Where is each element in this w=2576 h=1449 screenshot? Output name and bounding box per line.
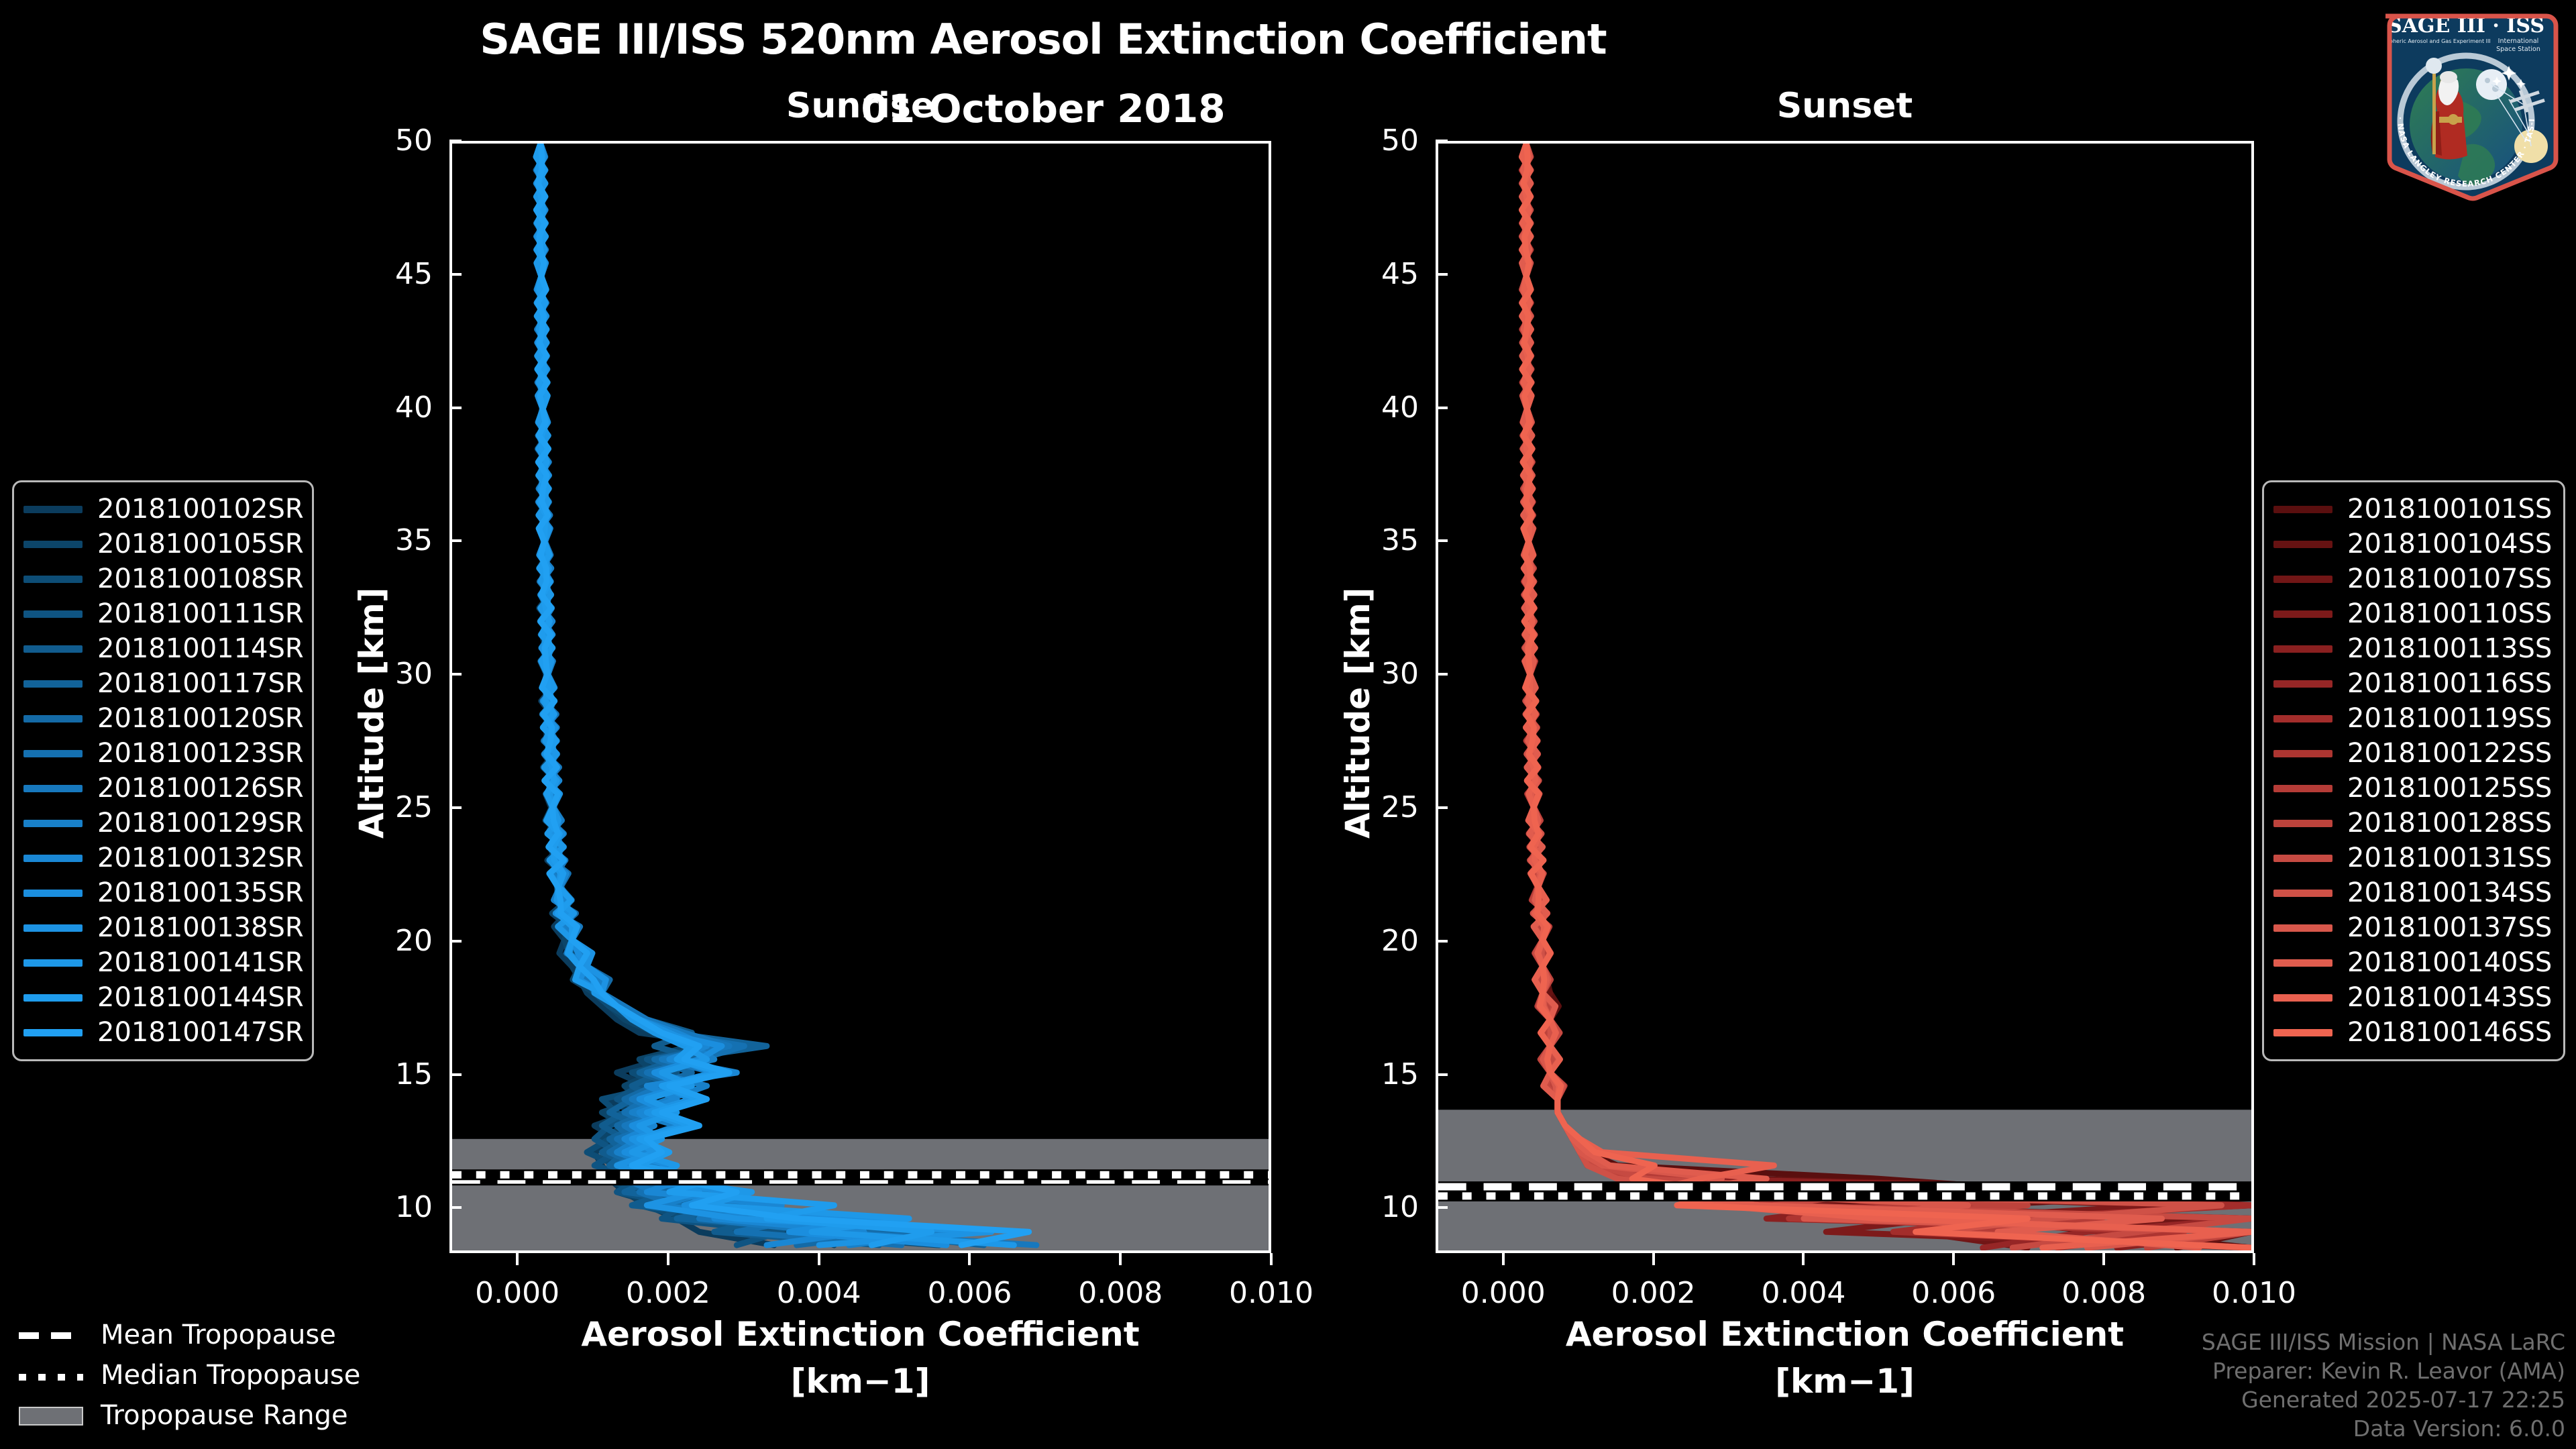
legend-color-swatch <box>2273 680 2332 688</box>
legend-color-swatch <box>23 959 83 967</box>
sunrise-xtick-mark-5 <box>1270 1253 1273 1265</box>
data-series-line <box>1521 144 2251 1248</box>
sunset-xtick-mark-2 <box>1802 1253 1805 1265</box>
sunset-xtick-mark-5 <box>2253 1253 2255 1265</box>
legend-label: 2018100116SS <box>2347 668 2552 699</box>
sunset-ytick-mark-40 <box>1436 407 1448 409</box>
sunrise-ytick-mark-45 <box>449 273 462 276</box>
sunrise-xtick-label-5: 0.010 <box>1197 1276 1345 1310</box>
legend-label: 2018100120SR <box>97 703 304 734</box>
legend-color-swatch <box>2273 924 2332 932</box>
legend-label: 2018100122SS <box>2347 738 2552 769</box>
sunset-xtick-mark-4 <box>2102 1253 2105 1265</box>
sunrise-ytick-label-45: 45 <box>332 257 433 291</box>
data-series-line <box>537 144 991 1245</box>
data-series-line <box>1522 144 2251 1248</box>
data-series-line <box>1522 144 2251 1248</box>
legend-label: 2018100135SR <box>97 877 304 908</box>
sunrise-ytick-mark-20 <box>449 940 462 943</box>
plot-panel-sunrise <box>449 141 1271 1253</box>
credits-line-generated: Generated 2025-07-17 22:25 <box>2202 1386 2565 1415</box>
dotted-line-icon <box>19 1366 83 1384</box>
sunset-xtick-label-1: 0.002 <box>1580 1276 1727 1310</box>
sunrise-yaxis-title: Altitude [km] <box>352 587 391 839</box>
data-series-line <box>536 144 932 1245</box>
data-series-line <box>1521 144 2251 1248</box>
sunrise-ytick-mark-15 <box>449 1073 462 1076</box>
sunrise-ytick-label-15: 15 <box>332 1057 433 1091</box>
credits-line-version: Data Version: 6.0.0 <box>2202 1415 2565 1444</box>
data-series-line <box>537 144 939 1245</box>
data-series-line <box>1521 144 2251 1248</box>
legend-item-sunset[interactable]: 2018100119SS <box>2273 701 2551 736</box>
sunrise-xtick-mark-1 <box>667 1253 669 1265</box>
legend-color-swatch <box>23 855 83 862</box>
sunset-ytick-mark-50 <box>1436 140 1448 142</box>
data-series-line <box>537 144 1014 1245</box>
legend-item-sunset[interactable]: 2018100101SS <box>2273 492 2551 527</box>
legend-item-sunrise[interactable]: 2018100108SR <box>23 561 300 596</box>
credits-line-mission: SAGE III/ISS Mission | NASA LaRC <box>2202 1328 2565 1357</box>
sunrise-ytick-mark-30 <box>449 673 462 676</box>
legend-color-swatch <box>2273 820 2332 827</box>
sunrise-xtick-label-3: 0.006 <box>896 1276 1043 1310</box>
legend-item-sunrise[interactable]: 2018100111SR <box>23 596 300 631</box>
legend-label-mean-tropopause: Mean Tropopause <box>101 1320 336 1350</box>
sunrise-xaxis-title-line2: [km−1] <box>449 1362 1271 1401</box>
legend-item-sunrise[interactable]: 2018100141SR <box>23 945 300 980</box>
sunrise-xtick-mark-0 <box>516 1253 519 1265</box>
sunset-ytick-label-10: 10 <box>1318 1190 1419 1224</box>
legend-label-tropopause-range: Tropopause Range <box>101 1400 348 1431</box>
data-series-line <box>536 144 1028 1245</box>
sunset-ytick-mark-45 <box>1436 273 1448 276</box>
sunset-xtick-label-2: 0.004 <box>1729 1276 1877 1310</box>
data-series-line <box>1521 144 2251 1248</box>
legend-label: 2018100125SS <box>2347 773 2552 804</box>
sunrise-ytick-label-35: 35 <box>332 523 433 557</box>
legend-item-sunrise[interactable]: 2018100129SR <box>23 806 300 841</box>
legend-label: 2018100113SS <box>2347 633 2552 664</box>
legend-item-sunset[interactable]: 2018100134SS <box>2273 875 2551 910</box>
credits-block: SAGE III/ISS Mission | NASA LaRC Prepare… <box>2202 1328 2565 1444</box>
sunrise-xtick-label-2: 0.004 <box>745 1276 893 1310</box>
data-series-line <box>1522 144 2251 1248</box>
sunset-xtick-label-3: 0.006 <box>1880 1276 2027 1310</box>
sunrise-ytick-label-10: 10 <box>332 1190 433 1224</box>
data-series-line <box>1521 144 2251 1248</box>
sunrise-xtick-mark-4 <box>1119 1253 1122 1265</box>
legend-item-sunrise[interactable]: 2018100147SR <box>23 1015 300 1050</box>
legend-label: 2018100146SS <box>2347 1017 2552 1048</box>
legend-color-swatch <box>23 506 83 513</box>
legend-item-sunrise[interactable]: 2018100144SR <box>23 980 300 1015</box>
legend-color-swatch <box>23 680 83 688</box>
legend-color-swatch <box>2273 506 2332 513</box>
sunset-xtick-label-4: 0.008 <box>2030 1276 2178 1310</box>
sunset-ytick-mark-10 <box>1436 1206 1448 1209</box>
legend-row-median-tropopause: Median Tropopause <box>9 1355 425 1395</box>
legend-color-swatch <box>23 924 83 932</box>
legend-row-mean-tropopause: Mean Tropopause <box>9 1315 425 1355</box>
data-series-line <box>1522 144 2251 1248</box>
sunrise-ytick-label-50: 50 <box>332 123 433 158</box>
sunset-ytick-mark-20 <box>1436 940 1448 943</box>
legend-label: 2018100128SS <box>2347 808 2552 839</box>
sunrise-ytick-mark-50 <box>449 140 462 142</box>
sunrise-plot-svg <box>452 144 1269 1250</box>
legend-item-sunrise[interactable]: 2018100120SR <box>23 701 300 736</box>
sunrise-panel-title: Sunrise <box>449 86 1271 126</box>
sunset-ytick-label-15: 15 <box>1318 1057 1419 1091</box>
sunset-ytick-label-35: 35 <box>1318 523 1419 557</box>
sunset-xtick-mark-0 <box>1502 1253 1505 1265</box>
sunrise-xtick-label-4: 0.008 <box>1046 1276 1194 1310</box>
sunset-ytick-mark-15 <box>1436 1073 1448 1076</box>
legend-item-sunrise[interactable]: 2018100105SR <box>23 527 300 561</box>
sunset-ytick-label-20: 20 <box>1318 924 1419 958</box>
data-series-line <box>1521 144 2251 1248</box>
sunset-xaxis-title-line1: Aerosol Extinction Coefficient <box>1436 1315 2254 1354</box>
legend-item-sunrise[interactable]: 2018100114SR <box>23 631 300 666</box>
legend-sunrise[interactable]: 2018100102SR2018100105SR2018100108SR2018… <box>12 480 314 1061</box>
sunrise-ytick-mark-35 <box>449 539 462 542</box>
legend-item-sunrise[interactable]: 2018100102SR <box>23 492 300 527</box>
legend-tropopause: Mean Tropopause Median Tropopause Tropop… <box>9 1315 425 1436</box>
legend-label: 2018100141SR <box>97 947 304 978</box>
legend-color-swatch <box>23 645 83 653</box>
legend-label: 2018100132SR <box>97 843 304 873</box>
legend-label: 2018100119SS <box>2347 703 2552 734</box>
legend-color-swatch <box>2273 890 2332 897</box>
credits-line-preparer: Preparer: Kevin R. Leavor (AMA) <box>2202 1357 2565 1386</box>
legend-color-swatch <box>2273 750 2332 757</box>
legend-label: 2018100123SR <box>97 738 304 769</box>
legend-label: 2018100110SS <box>2347 598 2552 629</box>
legend-color-swatch <box>2273 994 2332 1002</box>
legend-row-tropopause-range: Tropopause Range <box>9 1395 425 1436</box>
legend-color-swatch <box>2273 715 2332 722</box>
sunrise-xtick-mark-2 <box>818 1253 820 1265</box>
legend-item-sunset[interactable]: 2018100131SS <box>2273 841 2551 875</box>
legend-item-sunset[interactable]: 2018100140SS <box>2273 945 2551 980</box>
sunrise-xtick-label-0: 0.000 <box>443 1276 591 1310</box>
legend-item-sunset[interactable]: 2018100104SS <box>2273 527 2551 561</box>
legend-label: 2018100105SR <box>97 529 304 559</box>
sunrise-ytick-mark-25 <box>449 806 462 809</box>
legend-color-swatch <box>23 785 83 792</box>
sage-iii-iss-mission-patch-icon: BALL · NASA LANGLEY RESEARCH CENTER · TA… <box>2365 4 2567 205</box>
legend-item-sunset[interactable]: 2018100107SS <box>2273 561 2551 596</box>
legend-label: 2018100108SR <box>97 563 304 594</box>
legend-color-swatch <box>2273 855 2332 862</box>
data-series-line <box>1521 144 2251 1248</box>
legend-label: 2018100144SR <box>97 982 304 1013</box>
sunrise-xaxis-title-line1: Aerosol Extinction Coefficient <box>449 1315 1271 1354</box>
data-series-line <box>1521 144 2251 1248</box>
legend-label: 2018100104SS <box>2347 529 2552 559</box>
legend-item-sunset[interactable]: 2018100128SS <box>2273 806 2551 841</box>
page-title: SAGE III/ISS 520nm Aerosol Extinction Co… <box>0 15 2086 64</box>
legend-label: 2018100101SS <box>2347 494 2552 525</box>
sunset-xtick-mark-3 <box>1952 1253 1955 1265</box>
plot-panel-sunset <box>1436 141 2254 1253</box>
legend-item-sunset[interactable]: 2018100110SS <box>2273 596 2551 631</box>
legend-color-swatch <box>23 541 83 548</box>
legend-color-swatch <box>2273 610 2332 618</box>
legend-color-swatch <box>23 994 83 1002</box>
legend-label: 2018100126SR <box>97 773 304 804</box>
sunset-ytick-mark-25 <box>1436 806 1448 809</box>
sunset-ytick-label-45: 45 <box>1318 257 1419 291</box>
legend-label: 2018100114SR <box>97 633 304 664</box>
sunrise-xtick-mark-3 <box>968 1253 971 1265</box>
legend-item-sunrise[interactable]: 2018100123SR <box>23 736 300 771</box>
sunset-yaxis-title: Altitude [km] <box>1338 587 1377 839</box>
data-series-line <box>536 144 901 1245</box>
patch-subtitle-right-line1: International <box>2498 38 2539 45</box>
data-series-line <box>536 144 909 1245</box>
legend-color-swatch <box>2273 1029 2332 1036</box>
patch-subtitle-right-line2: Space Station <box>2496 46 2540 53</box>
legend-label: 2018100131SS <box>2347 843 2552 873</box>
sunset-ytick-label-40: 40 <box>1318 390 1419 425</box>
data-series-line <box>537 144 984 1245</box>
legend-label: 2018100147SR <box>97 1017 304 1048</box>
filled-band-icon <box>19 1407 83 1424</box>
sunset-ytick-label-50: 50 <box>1318 123 1419 158</box>
sunset-xaxis-title-line2: [km−1] <box>1436 1362 2254 1401</box>
legend-color-swatch <box>2273 541 2332 548</box>
legend-color-swatch <box>23 715 83 722</box>
data-series-line <box>1521 144 2184 1248</box>
legend-item-sunset[interactable]: 2018100146SS <box>2273 1015 2551 1050</box>
legend-label-median-tropopause: Median Tropopause <box>101 1360 360 1391</box>
legend-label: 2018100111SR <box>97 598 304 629</box>
sunrise-ytick-mark-40 <box>449 407 462 409</box>
legend-item-sunrise[interactable]: 2018100132SR <box>23 841 300 875</box>
legend-label: 2018100102SR <box>97 494 304 525</box>
legend-color-swatch <box>23 1029 83 1036</box>
legend-label: 2018100137SS <box>2347 912 2552 943</box>
sunset-xtick-mark-1 <box>1652 1253 1655 1265</box>
sunset-plot-svg <box>1438 144 2251 1250</box>
sunrise-ytick-mark-10 <box>449 1206 462 1209</box>
legend-color-swatch <box>23 576 83 583</box>
legend-item-sunrise[interactable]: 2018100135SR <box>23 875 300 910</box>
legend-item-sunset[interactable]: 2018100143SS <box>2273 980 2551 1015</box>
data-series-line <box>536 144 1036 1245</box>
legend-color-swatch <box>23 890 83 897</box>
data-series-line <box>1522 144 2200 1248</box>
legend-color-swatch <box>2273 645 2332 653</box>
legend-item-sunset[interactable]: 2018100113SS <box>2273 631 2551 666</box>
legend-item-sunset[interactable]: 2018100125SS <box>2273 771 2551 806</box>
legend-label: 2018100129SR <box>97 808 304 839</box>
legend-sunset[interactable]: 2018100101SS2018100104SS2018100107SS2018… <box>2262 480 2565 1061</box>
legend-label: 2018100107SS <box>2347 563 2552 594</box>
data-series-line <box>536 144 954 1245</box>
sunset-xtick-label-0: 0.000 <box>1430 1276 1577 1310</box>
legend-label: 2018100134SS <box>2347 877 2552 908</box>
legend-color-swatch <box>2273 959 2332 967</box>
legend-color-swatch <box>23 750 83 757</box>
legend-label: 2018100140SS <box>2347 947 2552 978</box>
legend-color-swatch <box>23 610 83 618</box>
data-series-line <box>1521 144 2251 1248</box>
data-series-line <box>1521 144 2251 1248</box>
legend-label: 2018100117SR <box>97 668 304 699</box>
dashed-line-icon <box>19 1326 83 1344</box>
legend-color-swatch <box>2273 576 2332 583</box>
legend-label: 2018100143SS <box>2347 982 2552 1013</box>
data-series-line <box>537 144 947 1245</box>
legend-color-swatch <box>2273 785 2332 792</box>
legend-color-swatch <box>23 820 83 827</box>
legend-item-sunrise[interactable]: 2018100126SR <box>23 771 300 806</box>
sunset-ytick-mark-35 <box>1436 539 1448 542</box>
sunset-panel-title: Sunset <box>1436 86 2254 126</box>
sunrise-ytick-label-40: 40 <box>332 390 433 425</box>
sunrise-xtick-label-1: 0.002 <box>594 1276 742 1310</box>
sunrise-ytick-label-20: 20 <box>332 924 433 958</box>
legend-item-sunrise[interactable]: 2018100138SR <box>23 910 300 945</box>
legend-item-sunset[interactable]: 2018100122SS <box>2273 736 2551 771</box>
legend-item-sunrise[interactable]: 2018100117SR <box>23 666 300 701</box>
legend-item-sunset[interactable]: 2018100137SS <box>2273 910 2551 945</box>
sunset-ytick-mark-30 <box>1436 673 1448 676</box>
legend-item-sunset[interactable]: 2018100116SS <box>2273 666 2551 701</box>
legend-label: 2018100138SR <box>97 912 304 943</box>
sunset-xtick-label-5: 0.010 <box>2180 1276 2328 1310</box>
